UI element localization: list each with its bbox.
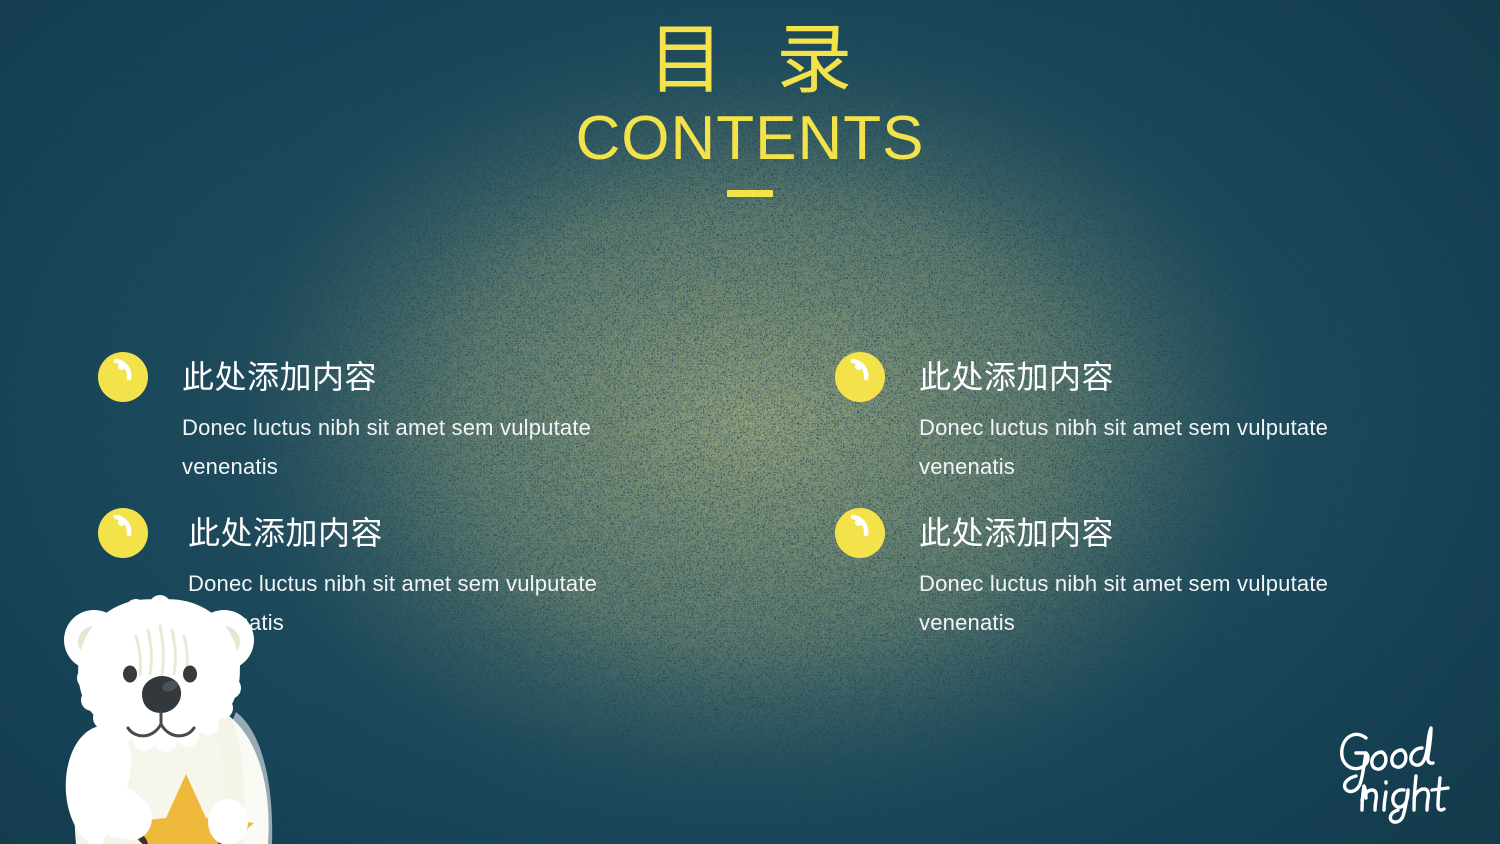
moon-bullet-icon: [98, 508, 148, 558]
moon-bullet-arc-icon: [107, 514, 141, 548]
contents-item-1-head: 此处添加内容: [98, 352, 618, 402]
moon-bullet-icon: [98, 352, 148, 402]
contents-item-2-title: 此处添加内容: [188, 513, 383, 553]
title-underline-rule: [727, 190, 773, 197]
contents-slide: 目 录 CONTENTS 此处添加内容 Donec luctus nibh si…: [0, 0, 1500, 844]
moon-bullet-icon: [835, 508, 885, 558]
contents-item-3-head: 此处添加内容: [835, 352, 1355, 402]
contents-item-4[interactable]: 此处添加内容 Donec luctus nibh sit amet sem vu…: [835, 508, 1355, 642]
contents-item-1-body: Donec luctus nibh sit amet sem vulputate…: [182, 408, 618, 486]
goodnight-script-logo: [1334, 722, 1462, 826]
moon-bullet-arc-icon: [844, 514, 878, 548]
contents-item-3[interactable]: 此处添加内容 Donec luctus nibh sit amet sem vu…: [835, 352, 1355, 486]
contents-item-1-title: 此处添加内容: [182, 357, 377, 397]
contents-item-4-title: 此处添加内容: [919, 513, 1114, 553]
contents-item-3-title: 此处添加内容: [919, 357, 1114, 397]
polar-bear-holding-star-illustration: [36, 582, 306, 844]
slide-title-block: 目 录 CONTENTS: [0, 18, 1500, 197]
contents-column-right: 此处添加内容 Donec luctus nibh sit amet sem vu…: [835, 352, 1355, 642]
contents-item-4-body: Donec luctus nibh sit amet sem vulputate…: [919, 564, 1355, 642]
contents-item-2-head: 此处添加内容: [98, 508, 618, 558]
contents-item-4-head: 此处添加内容: [835, 508, 1355, 558]
contents-item-1[interactable]: 此处添加内容 Donec luctus nibh sit amet sem vu…: [98, 352, 618, 486]
moon-bullet-arc-icon: [844, 358, 878, 392]
contents-item-3-body: Donec luctus nibh sit amet sem vulputate…: [919, 408, 1355, 486]
page-title-cn: 目 录: [0, 18, 1500, 102]
moon-bullet-arc-icon: [107, 358, 141, 392]
moon-bullet-icon: [835, 352, 885, 402]
page-title-en: CONTENTS: [0, 106, 1500, 172]
